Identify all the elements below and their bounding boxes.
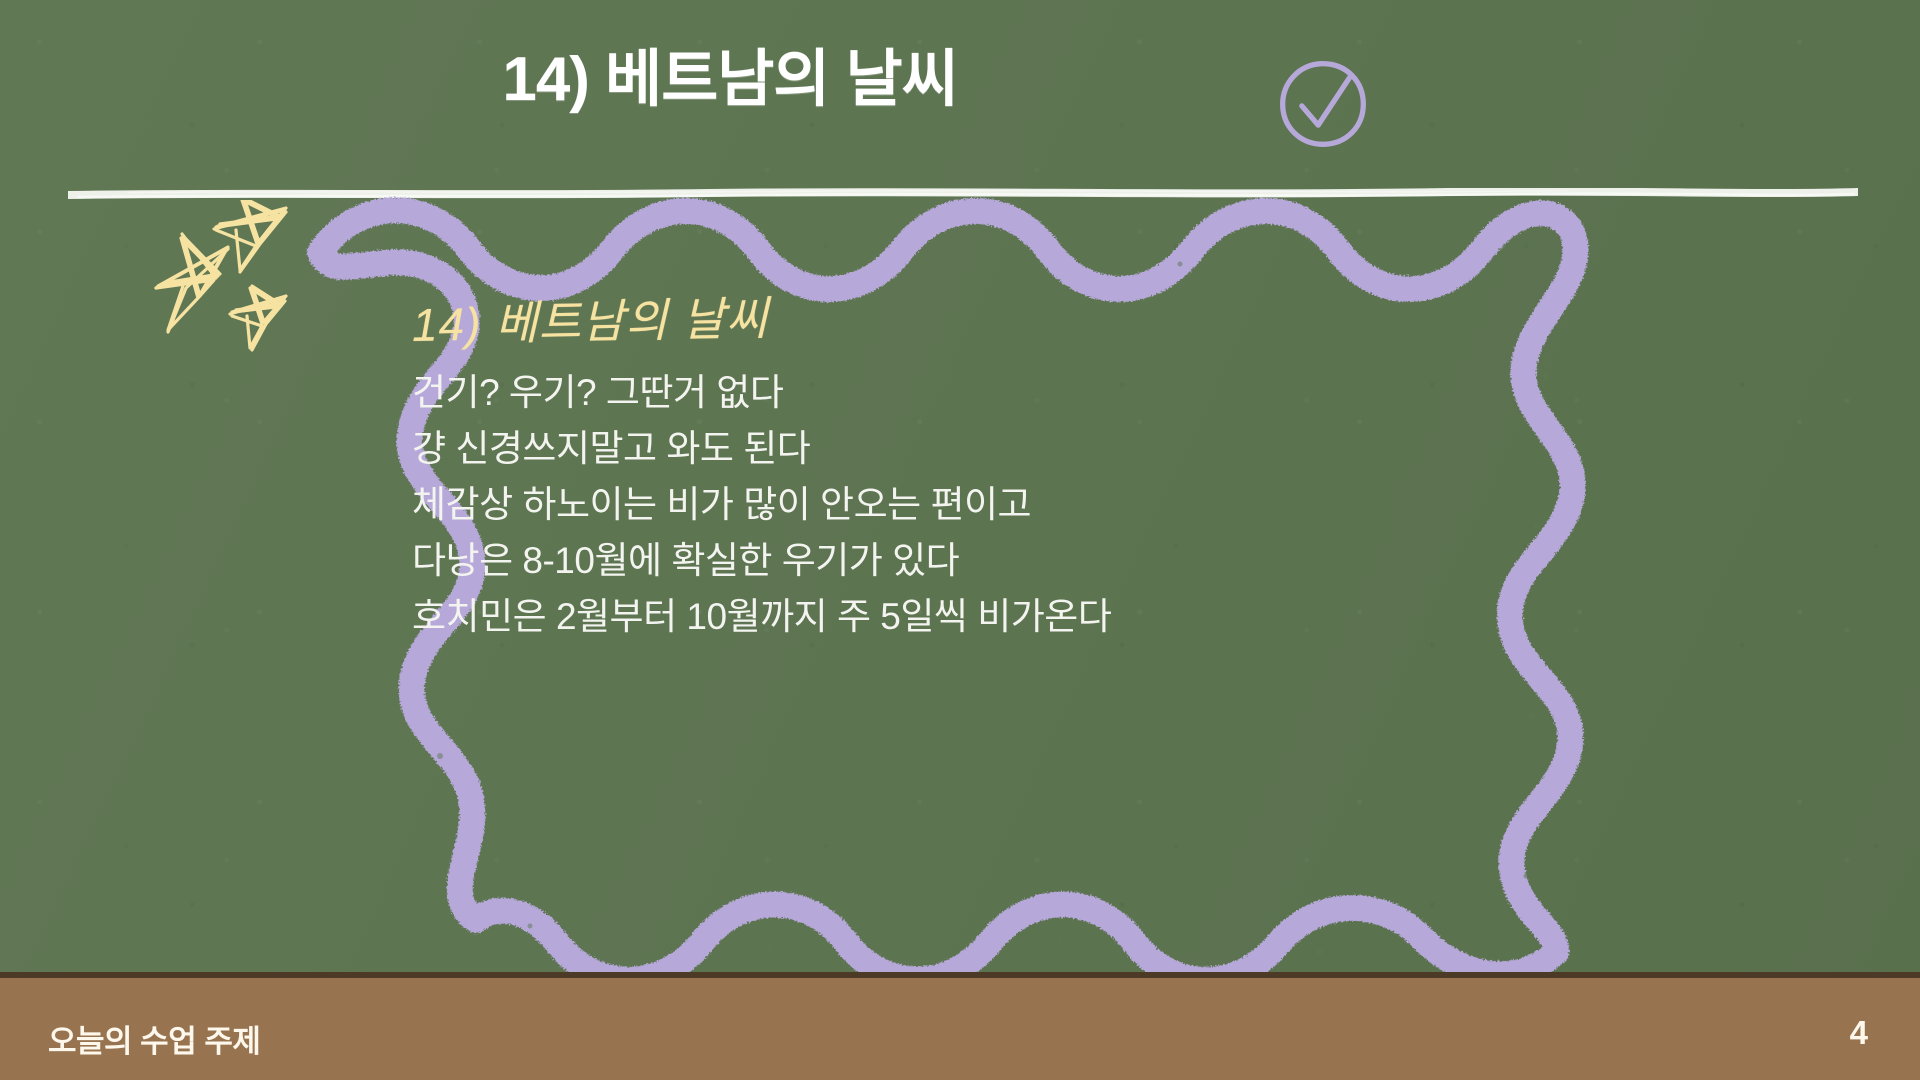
page-number: 4 — [1850, 1014, 1868, 1052]
circled-check-icon — [1275, 56, 1371, 152]
footer-bar: 오늘의 수업 주제 4 — [0, 972, 1920, 1080]
content-line-list: 건기? 우기? 그딴거 없다 걍 신경쓰지말고 와도 된다 체감상 하노이는 비… — [412, 365, 1472, 645]
footer-label: 오늘의 수업 주제 — [48, 1016, 260, 1061]
content-line: 호치민은 2월부터 10월까지 주 5일씩 비가온다 — [412, 589, 1472, 645]
content-line: 걍 신경쓰지말고 와도 된다 — [412, 421, 1472, 477]
content-line: 건기? 우기? 그딴거 없다 — [412, 365, 1472, 421]
content-line: 체감상 하노이는 비가 많이 안오는 편이고 — [412, 477, 1472, 533]
slide-canvas: 14) 베트남의 날씨 — [0, 0, 1920, 1080]
content-line: 다낭은 8-10월에 확실한 우기가 있다 — [412, 533, 1472, 589]
content-block: 14) 베트남의 날씨 건기? 우기? 그딴거 없다 걍 신경쓰지말고 와도 된… — [412, 300, 1472, 645]
page-title: 14) 베트남의 날씨 — [0, 46, 1460, 114]
